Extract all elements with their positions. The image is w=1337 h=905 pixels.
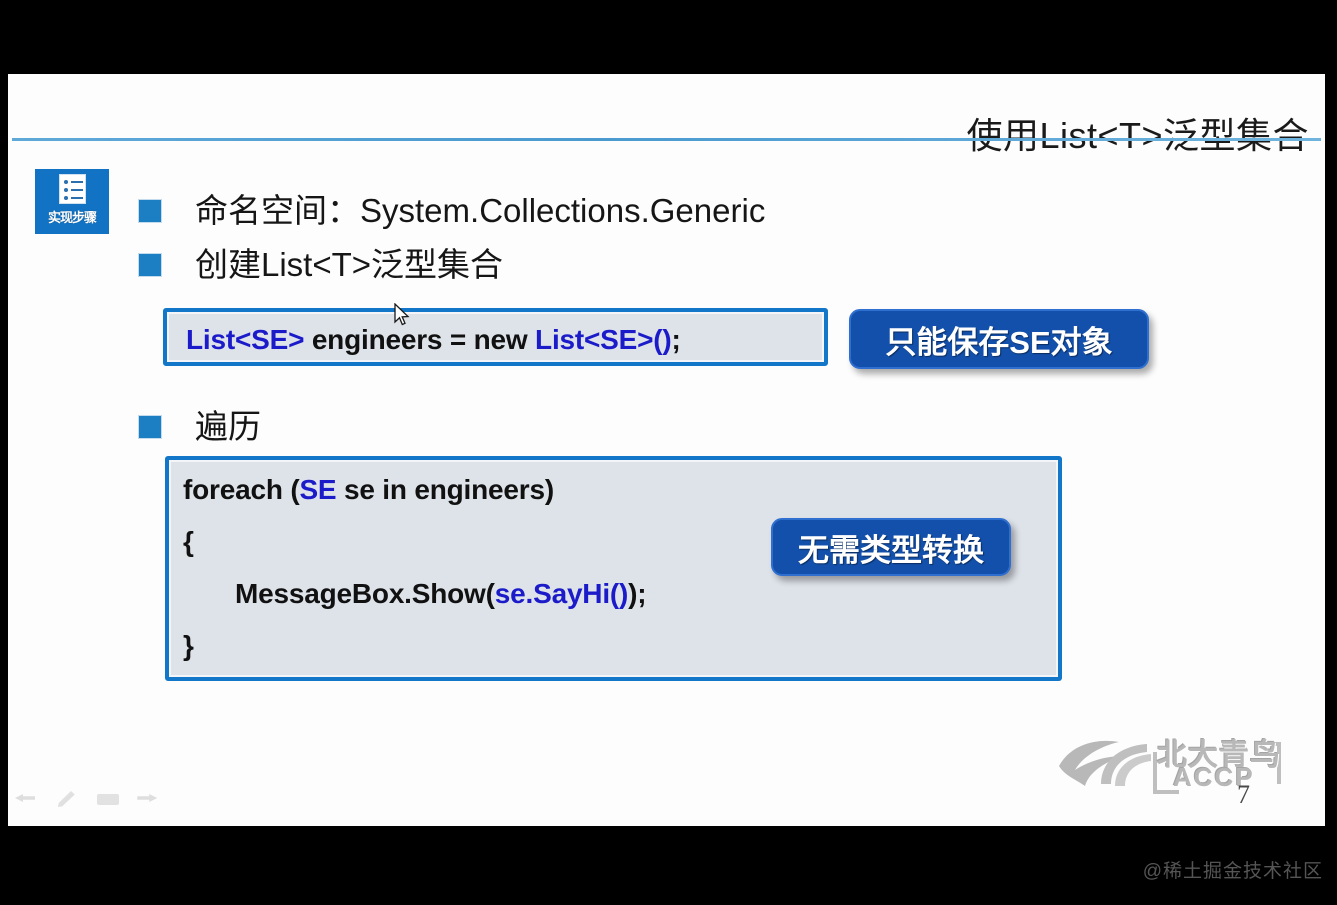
bullet-square-icon [139, 416, 161, 438]
code-token: { [183, 526, 194, 557]
code-block-declaration: List<SE> engineers = new List<SE>(); [163, 308, 828, 366]
code-token: } [183, 630, 194, 661]
code-token: ; [672, 324, 681, 355]
step-icon-badge: 实现步骤 [35, 169, 109, 234]
slide-page-number: 7 [1237, 780, 1250, 810]
arrow-left-icon[interactable] [14, 789, 37, 809]
code-token: List<SE>() [535, 324, 671, 355]
code-token: engineers = new [304, 324, 535, 355]
pen-icon[interactable] [55, 789, 78, 809]
video-letterbox-frame: 使用List<T>泛型集合 实现步骤 命名空间：System.Collectio… [0, 0, 1337, 905]
page-title: 使用List<T>泛型集合 [966, 118, 1309, 154]
step-icon-label: 实现步骤 [48, 207, 96, 226]
code-token: MessageBox.Show( [235, 578, 495, 609]
bullet-square-icon [139, 200, 161, 222]
arrow-right-icon[interactable] [136, 789, 159, 809]
code-line: foreach (SE se in engineers) [183, 474, 554, 506]
code-token: SE [299, 474, 336, 505]
document-list-icon [59, 174, 86, 204]
code-token: se.SayHi() [495, 578, 628, 609]
code-line: List<SE> engineers = new List<SE>(); [186, 324, 681, 356]
bullet-item-iterate: 遍历 [139, 409, 261, 445]
bullet-label: 命名空间：System.Collections.Generic [195, 193, 765, 229]
code-token: se in engineers) [336, 474, 554, 505]
code-token: ); [628, 578, 646, 609]
title-divider [12, 138, 1321, 141]
bullet-label: 创建List<T>泛型集合 [195, 247, 503, 283]
code-token: List<SE> [186, 324, 304, 355]
presenter-toolbar[interactable] [14, 786, 159, 812]
callout-badge-se-only: 只能保存SE对象 [849, 309, 1149, 369]
callout-badge-no-cast: 无需类型转换 [771, 518, 1011, 576]
bullet-item-create-list: 创建List<T>泛型集合 [139, 247, 503, 283]
code-token: foreach ( [183, 474, 299, 505]
presentation-slide: 使用List<T>泛型集合 实现步骤 命名空间：System.Collectio… [8, 74, 1325, 826]
watermark-text: @稀土掘金技术社区 [1143, 856, 1323, 883]
code-line: { [183, 526, 194, 558]
bird-swoosh-icon [1057, 736, 1153, 790]
code-line: MessageBox.Show(se.SayHi()); [235, 578, 646, 610]
slide-icon[interactable] [96, 789, 119, 809]
bullet-square-icon [139, 254, 161, 276]
bullet-item-namespace: 命名空间：System.Collections.Generic [139, 193, 765, 229]
code-line: } [183, 630, 194, 662]
bullet-label: 遍历 [195, 409, 261, 445]
